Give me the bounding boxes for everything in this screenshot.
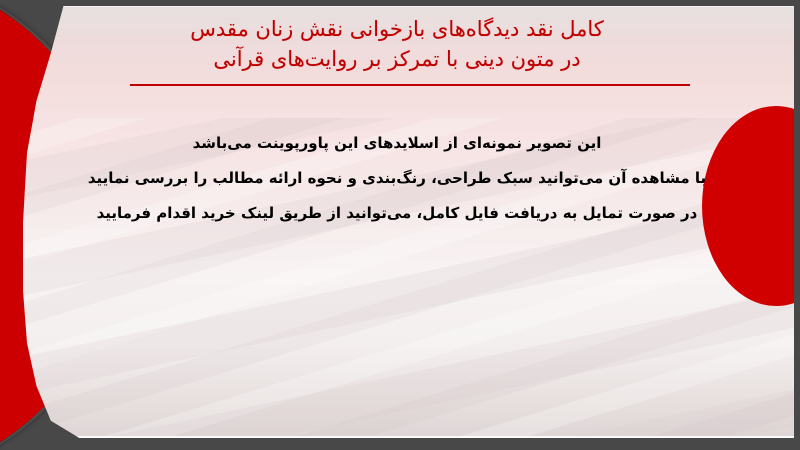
slide-title-line-1: کامل نقد دیدگاه‌های بازخوانی نقش زنان مق…: [0, 14, 794, 44]
panel-bottom-highlight: [60, 436, 794, 438]
slide-body-line-1: این تصویر نمونه‌ای از اسلایدهای این پاور…: [0, 126, 794, 161]
presentation-slide: کامل نقد دیدگاه‌های بازخوانی نقش زنان مق…: [0, 0, 800, 450]
title-underline-rule: [130, 84, 690, 86]
panel-top-highlight: [46, 6, 794, 7]
slide-title: کامل نقد دیدگاه‌های بازخوانی نقش زنان مق…: [0, 14, 794, 74]
slide-body-line-2: با مشاهده آن می‌توانید سبک طراحی، رنگ‌بن…: [0, 161, 794, 196]
slide-title-line-2: در متون دینی با تمرکز بر روایت‌های قرآنی: [0, 44, 794, 74]
slide-body-text: این تصویر نمونه‌ای از اسلایدهای این پاور…: [0, 126, 794, 231]
slide-content-panel: کامل نقد دیدگاه‌های بازخوانی نقش زنان مق…: [0, 6, 794, 438]
slide-body-line-3: در صورت تمایل به دریافت فایل کامل، می‌تو…: [0, 196, 794, 231]
